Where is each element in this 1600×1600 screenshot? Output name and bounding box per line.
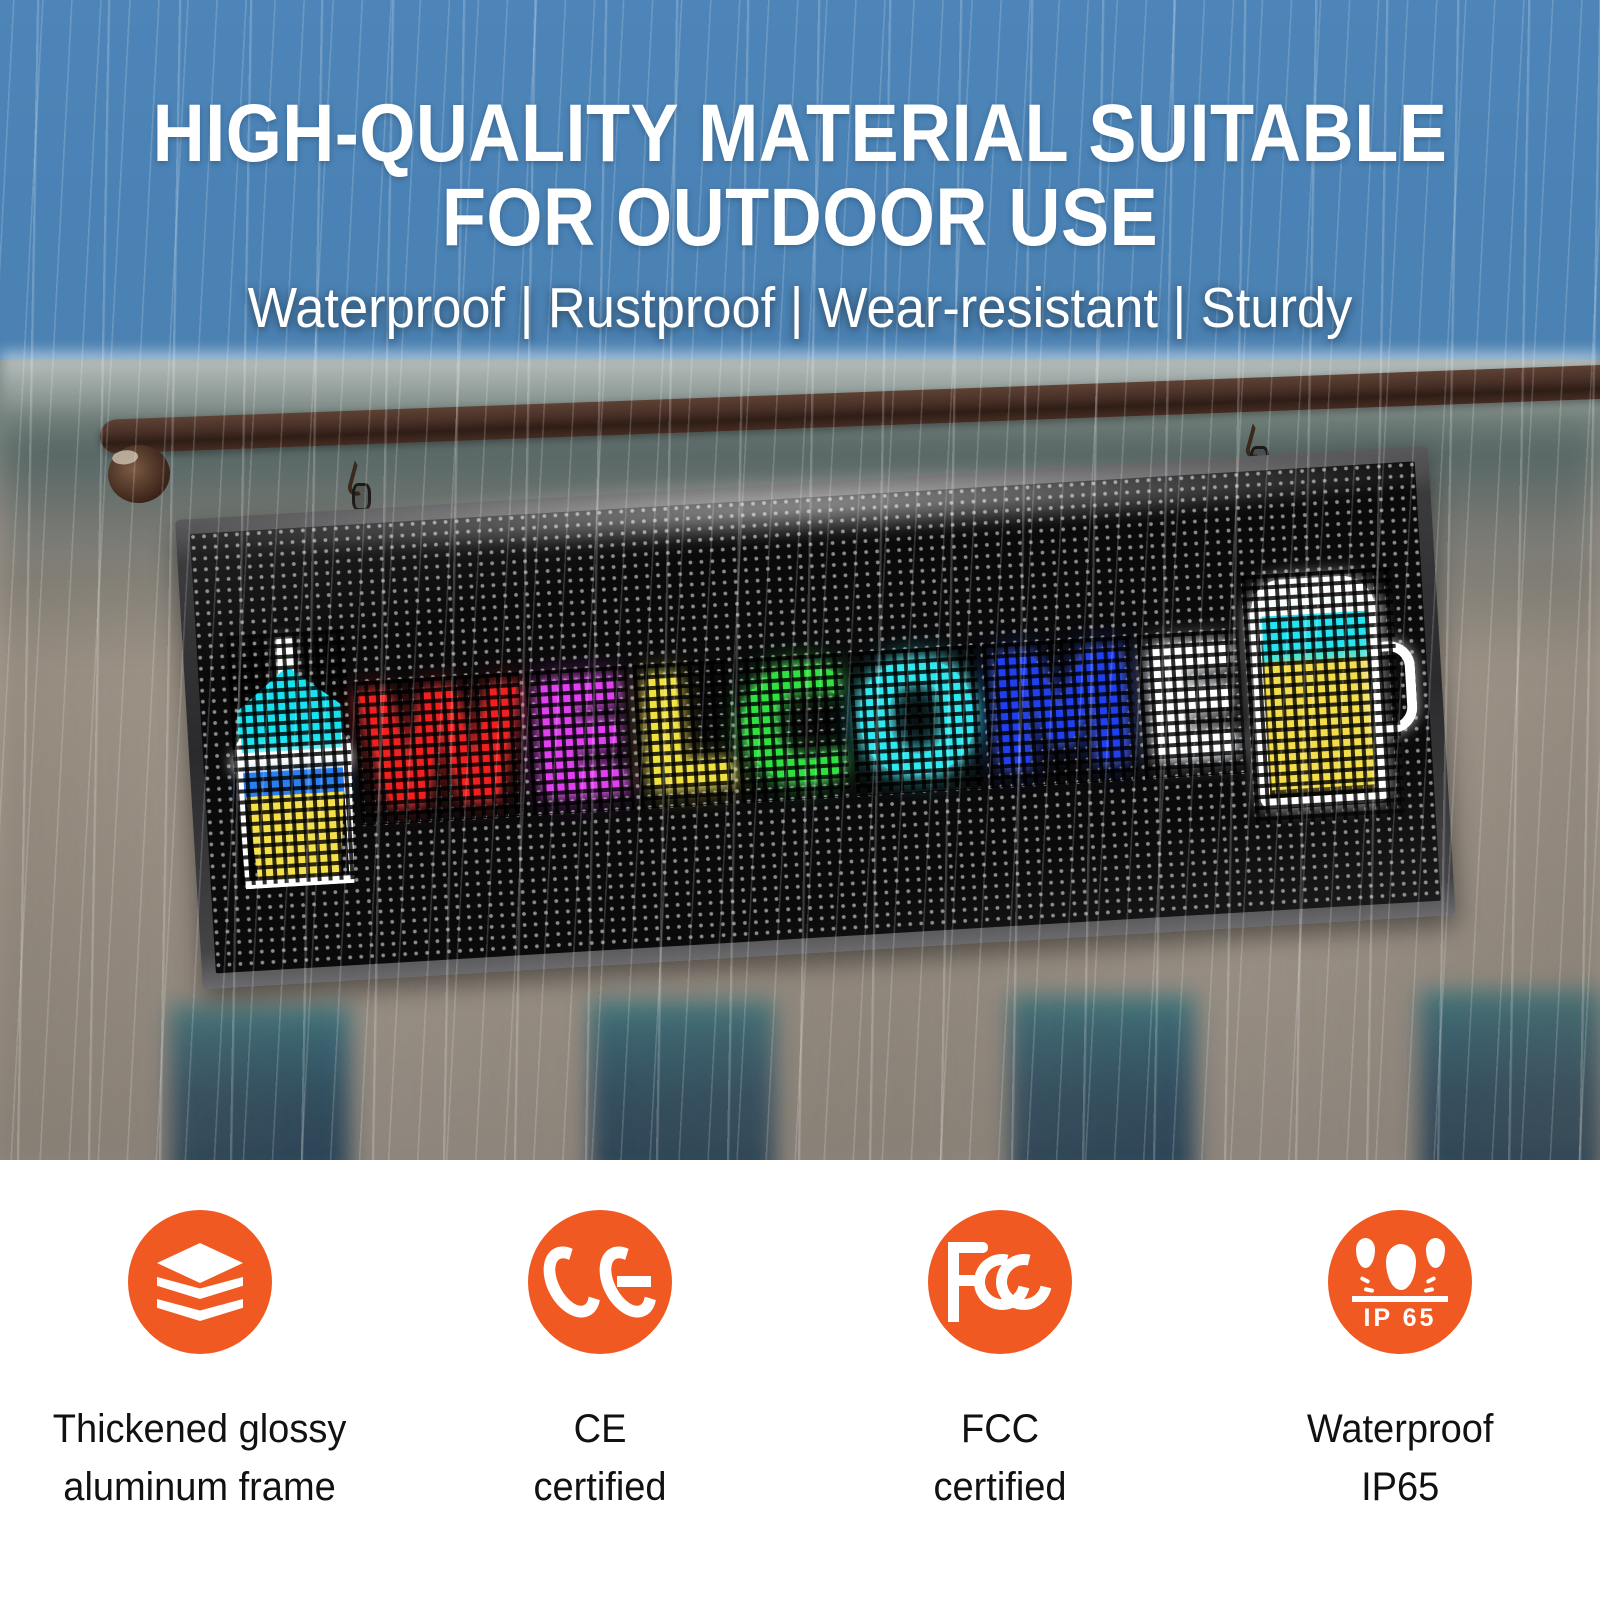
ip65-glyph: IP 65	[1348, 1234, 1452, 1330]
led-char-o: O	[848, 644, 984, 796]
product-marketing-image: W E L C	[0, 0, 1600, 1600]
beer-mug-icon	[1241, 567, 1406, 825]
fcc-f-arm-top	[948, 1242, 988, 1253]
feature-item-aluminum-frame: Thickened glossy aluminum frame	[20, 1210, 380, 1516]
layers-icon	[128, 1210, 272, 1354]
splash-tick	[1360, 1276, 1371, 1284]
layers-glyph	[157, 1243, 243, 1321]
mug-glass	[1249, 600, 1389, 809]
splash-tick	[1426, 1276, 1437, 1284]
layer-bottom	[157, 1299, 243, 1321]
ip65-underline	[1352, 1296, 1448, 1302]
feature-label-line-2: aluminum frame	[53, 1458, 347, 1516]
led-char-e1: E	[525, 665, 635, 815]
feature-label: FCC certified	[933, 1400, 1066, 1516]
led-char-glyph: E	[1135, 612, 1247, 795]
feature-item-ce-certified: CE certified	[420, 1210, 780, 1516]
fcc-mark-icon	[928, 1210, 1072, 1354]
subheadline: Waterproof | Rustproof | Wear-resistant …	[64, 259, 1536, 340]
led-char-glyph: E	[524, 648, 636, 831]
feature-label: Thickened glossy aluminum frame	[53, 1400, 347, 1516]
feature-label-line-2: certified	[533, 1458, 666, 1516]
feature-item-fcc-certified: FCC certified	[820, 1210, 1180, 1516]
drink-cup-icon	[226, 629, 359, 886]
feature-label: Waterproof IP65	[1307, 1400, 1494, 1516]
led-char-l: L	[632, 659, 735, 809]
feature-label-line-2: certified	[933, 1458, 1066, 1516]
ce-letter-e	[603, 1244, 653, 1320]
hero-text-block: HIGH-QUALITY MATERIAL SUITABLE FOR OUTDO…	[0, 0, 1600, 340]
led-char-glyph: O	[847, 627, 984, 811]
ce-letter-c	[532, 1237, 612, 1328]
ce-e-bar	[617, 1276, 651, 1287]
water-droplet-right	[1426, 1238, 1445, 1268]
splash-tick	[1364, 1287, 1375, 1293]
ip65-badge-text: IP 65	[1348, 1304, 1452, 1333]
led-char-glyph: M	[980, 618, 1140, 804]
fcc-glyph	[948, 1242, 1052, 1322]
cup-outline	[228, 651, 360, 890]
fcc-f-arm-mid	[948, 1275, 980, 1286]
ce-glyph	[547, 1244, 653, 1320]
feature-label-line-1: Thickened glossy	[53, 1400, 347, 1458]
fcc-letter-f	[948, 1242, 988, 1322]
layer-top	[157, 1243, 243, 1283]
feature-strip: Thickened glossy aluminum frame CE certi…	[0, 1160, 1600, 1600]
led-char-m: M	[981, 635, 1139, 788]
feature-label-line-1: FCC	[933, 1400, 1066, 1458]
led-char-glyph: C	[732, 635, 852, 818]
headline-line-1: HIGH-QUALITY MATERIAL SUITABLE	[96, 92, 1504, 176]
led-char-c: C	[733, 652, 851, 803]
headline: HIGH-QUALITY MATERIAL SUITABLE FOR OUTDO…	[96, 0, 1504, 259]
led-char-e2: E	[1136, 629, 1246, 779]
splash-tick	[1424, 1287, 1435, 1293]
mug-handle	[1367, 640, 1418, 735]
water-droplet-center	[1386, 1244, 1416, 1290]
led-char-glyph: W	[352, 655, 528, 842]
ce-mark-icon	[528, 1210, 672, 1354]
feature-label: CE certified	[533, 1400, 666, 1516]
water-droplet-left	[1356, 1238, 1375, 1268]
led-char-glyph: L	[631, 642, 736, 824]
feature-label-line-1: Waterproof	[1307, 1400, 1494, 1458]
feature-item-waterproof-ip65: IP 65 Waterproof IP65	[1220, 1210, 1580, 1516]
feature-label-line-1: CE	[533, 1400, 666, 1458]
feature-label-line-2: IP65	[1307, 1458, 1494, 1516]
headline-line-2: FOR OUTDOOR USE	[96, 176, 1504, 260]
ip65-waterproof-icon: IP 65	[1328, 1210, 1472, 1354]
led-char-w: W	[353, 671, 527, 825]
